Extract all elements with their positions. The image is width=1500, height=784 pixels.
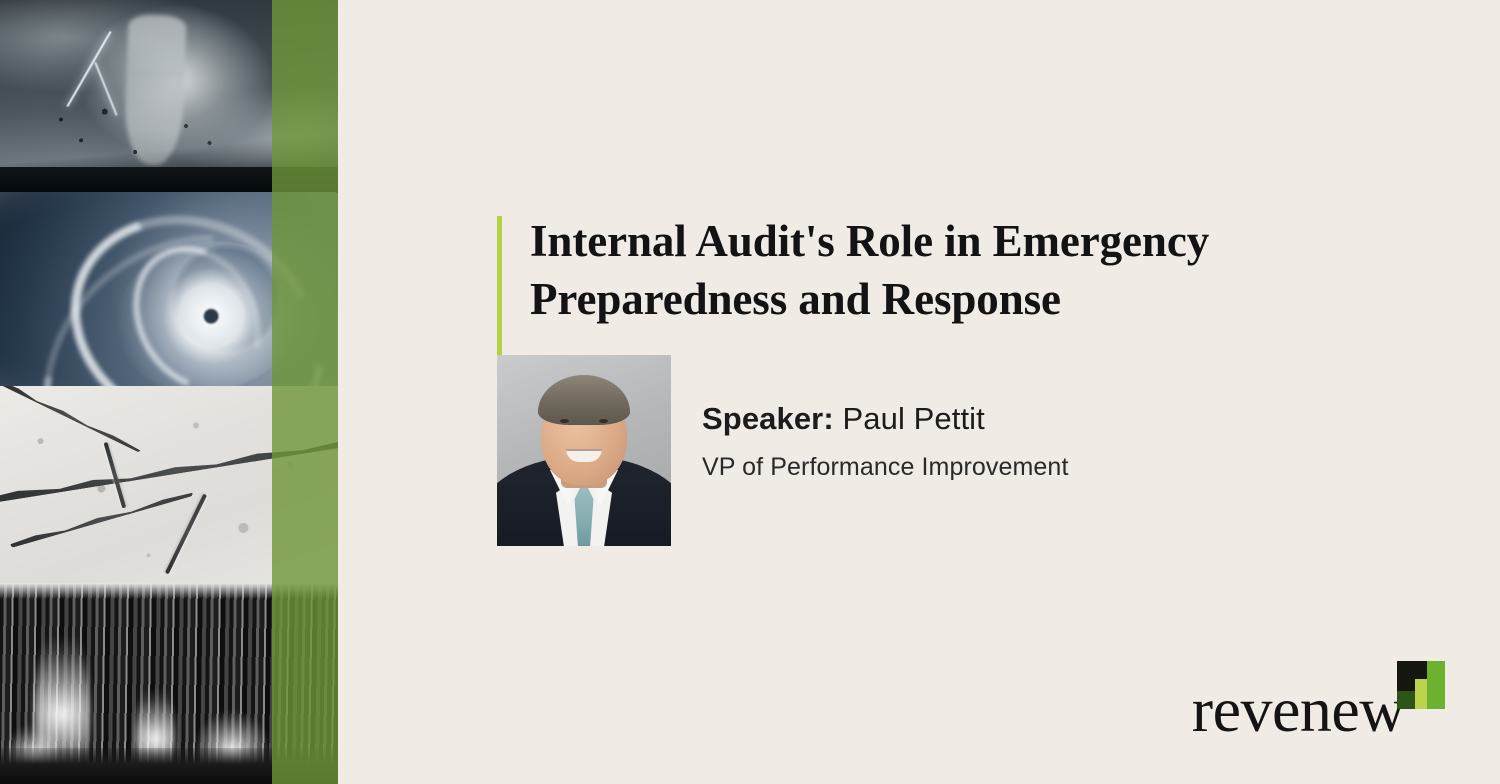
disaster-image-strip bbox=[0, 0, 338, 784]
green-tint-overlay bbox=[272, 0, 338, 192]
logo-square-mark-icon bbox=[1397, 661, 1445, 709]
revenew-logo: revenew bbox=[1192, 661, 1445, 736]
headshot-eye-left bbox=[560, 419, 569, 423]
headshot-eye-right bbox=[599, 419, 608, 423]
speaker-name-line: Speaker: Paul Pettit bbox=[702, 401, 1069, 437]
page-title: Internal Audit's Role in Emergency Prepa… bbox=[530, 212, 1290, 328]
speaker-label: Speaker: bbox=[702, 401, 834, 436]
logo-wordmark: revenew bbox=[1192, 684, 1405, 736]
logo-mark-dark-green-block bbox=[1397, 691, 1415, 709]
speaker-headshot bbox=[497, 355, 671, 546]
speaker-block: Speaker: Paul Pettit VP of Performance I… bbox=[497, 355, 1069, 546]
speaker-role: VP of Performance Improvement bbox=[702, 453, 1069, 482]
forest-fire-photo bbox=[0, 583, 338, 784]
crack-branch-lower bbox=[10, 490, 194, 548]
green-tint-overlay bbox=[272, 583, 338, 784]
crack-branch-vertical bbox=[104, 442, 126, 508]
title-block: Internal Audit's Role in Emergency Prepa… bbox=[530, 212, 1290, 328]
tornado-storm-photo bbox=[0, 0, 338, 192]
cracked-concrete-photo bbox=[0, 386, 338, 583]
speaker-text-block: Speaker: Paul Pettit VP of Performance I… bbox=[702, 355, 1069, 482]
green-tint-overlay bbox=[272, 386, 338, 583]
speaker-name: Paul Pettit bbox=[842, 401, 984, 436]
crack-branch-upper bbox=[0, 386, 142, 452]
hurricane-satellite-photo bbox=[0, 192, 338, 386]
lightning-bolt-icon bbox=[66, 31, 111, 107]
logo-mark-lime-block bbox=[1415, 679, 1427, 709]
logo-mark-green-block bbox=[1427, 661, 1445, 709]
crack-branch-diagonal bbox=[165, 493, 207, 574]
headshot-tie bbox=[575, 486, 594, 546]
green-tint-overlay bbox=[272, 192, 338, 386]
